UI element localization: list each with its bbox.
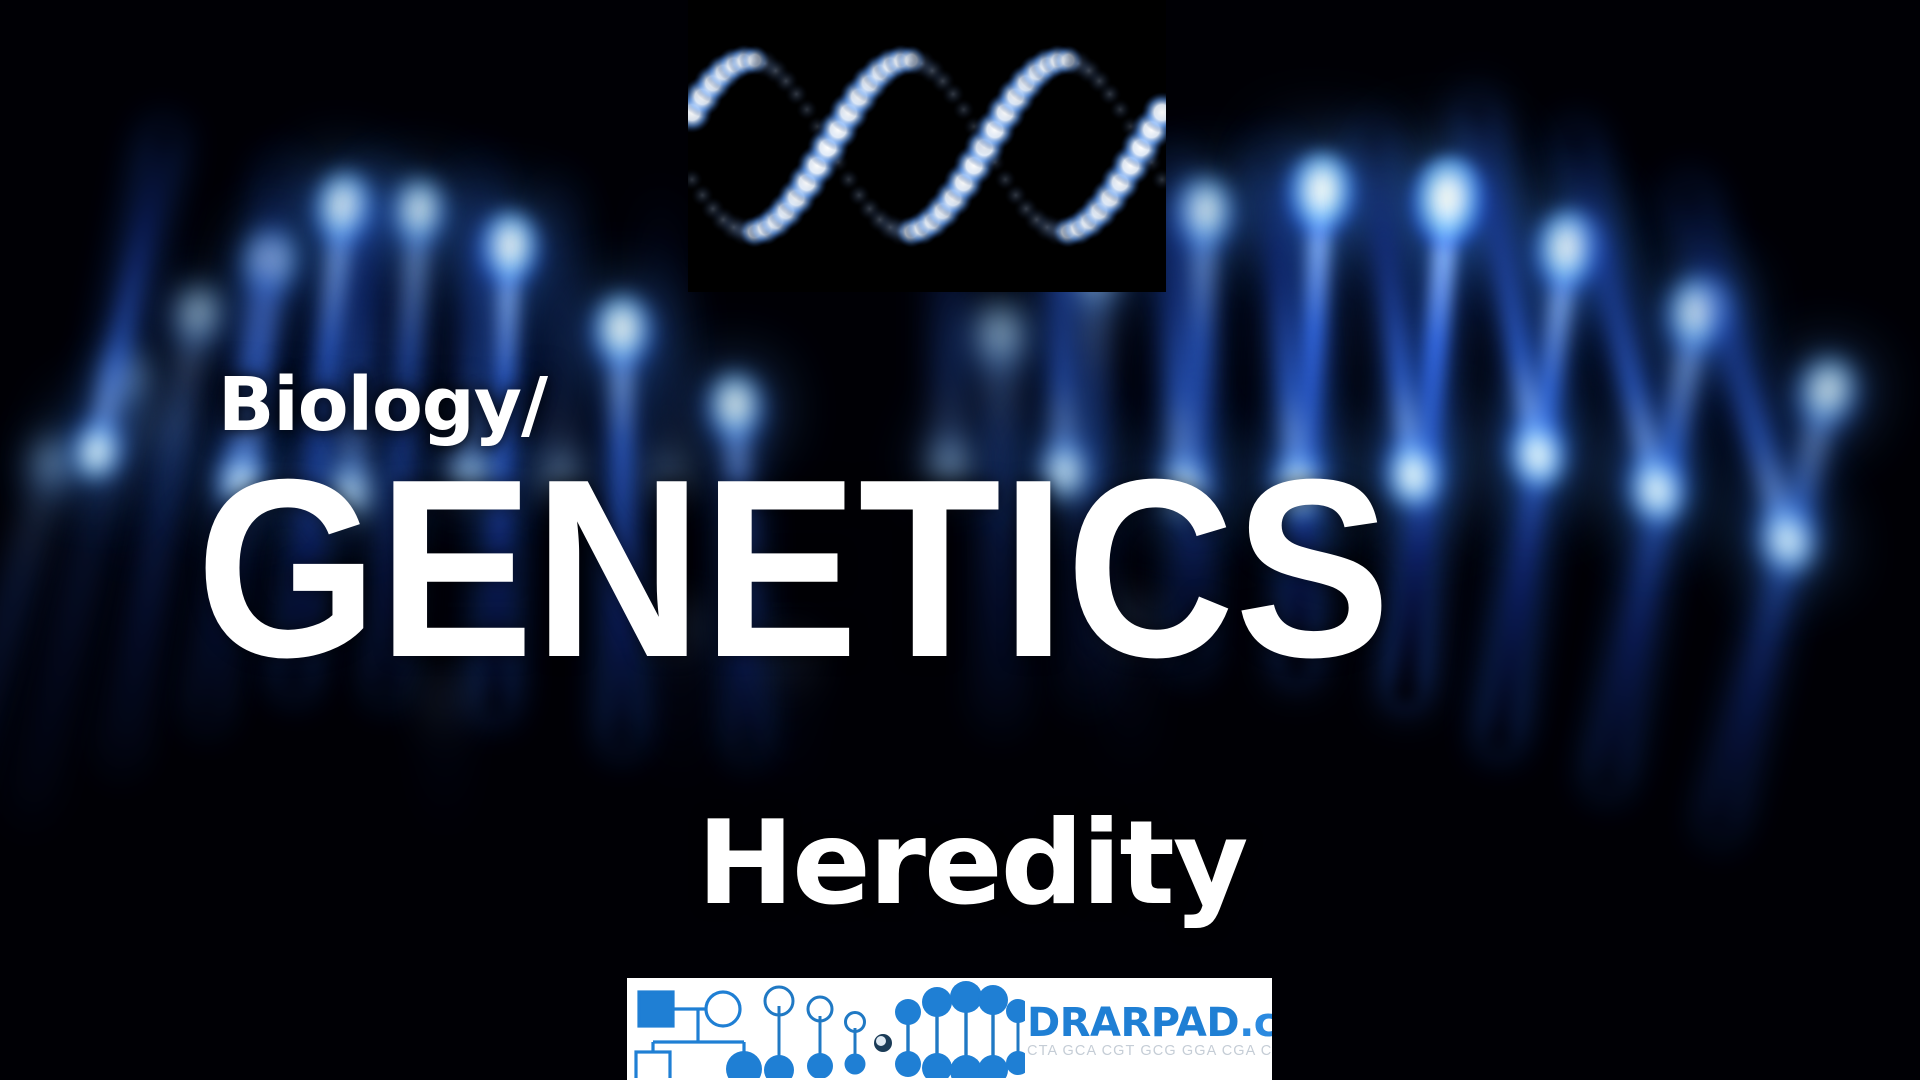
strand-stem [440,690,450,830]
strand-stem [196,249,282,727]
glowing-strand [972,325,1028,725]
strand-stem [87,126,173,462]
glowing-strand [1342,124,1445,489]
strand-stem [1707,378,1840,839]
strand-bulb [929,436,970,485]
glowing-strand [1572,294,1733,798]
strand-stem [1594,298,1710,793]
strand-stem [343,170,381,500]
strand-bulb [1749,496,1824,579]
glowing-strand [4,365,153,824]
glowing-strand [1242,144,1328,497]
glowing-strand [1116,615,1145,765]
brand-name: DRARPAD.com [1027,1003,1272,1043]
strand-stem [1179,200,1215,670]
glowing-strand [1157,199,1237,671]
drarpad-pedigree-dna-logo [627,980,1025,1078]
glowing-strand [1462,230,1605,755]
strand-bulb [1405,152,1492,252]
strand-stem [1393,184,1462,704]
strand-stem [1125,615,1136,765]
glowing-strand [93,300,226,772]
strand-stem [654,200,676,480]
strand-bulb [1787,350,1865,437]
strand-bulb [24,433,81,496]
dna-helix-dumbbells-tail [1006,999,1025,1075]
strand-bulb [1269,448,1330,518]
strand-stem [725,395,757,755]
strand-stem [0,453,63,871]
glowing-strand [666,620,695,770]
glowing-strand [69,122,191,465]
strand-stem [1467,99,1549,467]
strand-bulb [476,210,544,289]
strand-bulb [666,609,695,643]
strand-bulb [1039,438,1091,499]
strand-stem [990,325,1009,725]
strand-bulb [448,444,493,497]
title-card-stage: Biology/ GENETICS Heredity [0,0,1920,1080]
glowing-strand [1365,182,1489,707]
strand-bulb [167,281,229,351]
strand-stem [1566,128,1669,502]
strand-bulb [1526,204,1609,298]
brand-text-group: DRARPAD.com CTA GCA CGT GCG GGA CGA CTG [1027,999,1272,1059]
brand-name-main: DRARPAD [1027,1000,1239,1046]
glowing-strand [432,690,458,830]
dna-helix-dumbbells [895,981,1008,1078]
strand-bulb [972,304,1028,370]
glowing-strand [705,394,778,756]
strand-bulb [325,460,376,519]
glowing-strand [326,169,397,502]
glowing-strand [541,180,579,480]
strand-stem [1261,146,1308,496]
glowing-strand [461,234,543,716]
strand-bulb [308,168,380,250]
glowing-strand [0,449,76,875]
glowing-strand [644,200,687,481]
glowing-strand [1546,123,1689,507]
strand-stem [1677,182,1799,552]
glowing-strand [1260,176,1359,679]
strand-bulb [1116,604,1145,638]
strand-bulb [144,406,182,447]
brand-tld: .com [1239,1000,1272,1046]
strand-stem [1487,233,1581,751]
strand-bulb [704,372,767,445]
pedigree-chart [636,992,762,1078]
brand-logo-panel[interactable]: DRARPAD.com CTA GCA CGT GCG GGA CGA CTG [627,978,1272,1080]
strand-stem [233,162,288,491]
dna-dumbbell-row [764,987,866,1078]
strand-stem [674,620,685,770]
strand-stem [110,303,209,769]
strand-bulb [432,680,458,710]
glowing-strand [177,246,300,729]
strand-bulb [237,225,303,300]
strand-bulb [1620,447,1693,528]
dna-double-helix-icon [688,0,1166,292]
strand-bulb [590,294,655,370]
strand-bulb [777,641,803,671]
strand-stem [785,650,795,790]
strand-bulb [1283,149,1360,238]
strand-bulb [1171,175,1237,253]
glowing-strand [1446,95,1569,470]
strand-bulb [652,452,687,492]
strand-stem [1362,127,1424,487]
glowing-strand [102,416,179,577]
strand-stem [612,318,632,748]
shaded-node [874,1034,892,1052]
strand-bulb [1157,452,1212,516]
strand-stem [1285,177,1333,677]
strand-stem [553,180,566,480]
strand-bulb [1380,434,1447,511]
glowing-strand [777,650,803,790]
strand-stem [283,194,355,693]
glowing-strand [1059,262,1123,703]
strand-bulb [541,450,579,494]
glowing-strand [216,160,304,493]
glowing-strand [261,192,377,696]
glowing-strand [590,318,655,748]
strand-bulb [1502,412,1573,491]
glowing-strand [448,159,503,480]
strand-bulb [387,176,451,250]
glowing-strand [1686,372,1860,843]
glowing-strand [355,198,449,701]
strand-stem [110,418,170,574]
strand-stem [483,235,520,715]
strand-stem [463,160,488,480]
strand-bulb [99,348,157,412]
strand-stem [1078,262,1105,702]
brand-codon-strip: CTA GCA CGT GCG GGA CGA CTG [1027,1044,1272,1059]
strand-bulb [65,413,129,484]
glowing-strand [1657,177,1818,558]
strand-bulb [214,448,269,511]
strand-stem [376,199,430,699]
strand-bulb [1657,269,1738,359]
strand-stem [18,368,138,820]
